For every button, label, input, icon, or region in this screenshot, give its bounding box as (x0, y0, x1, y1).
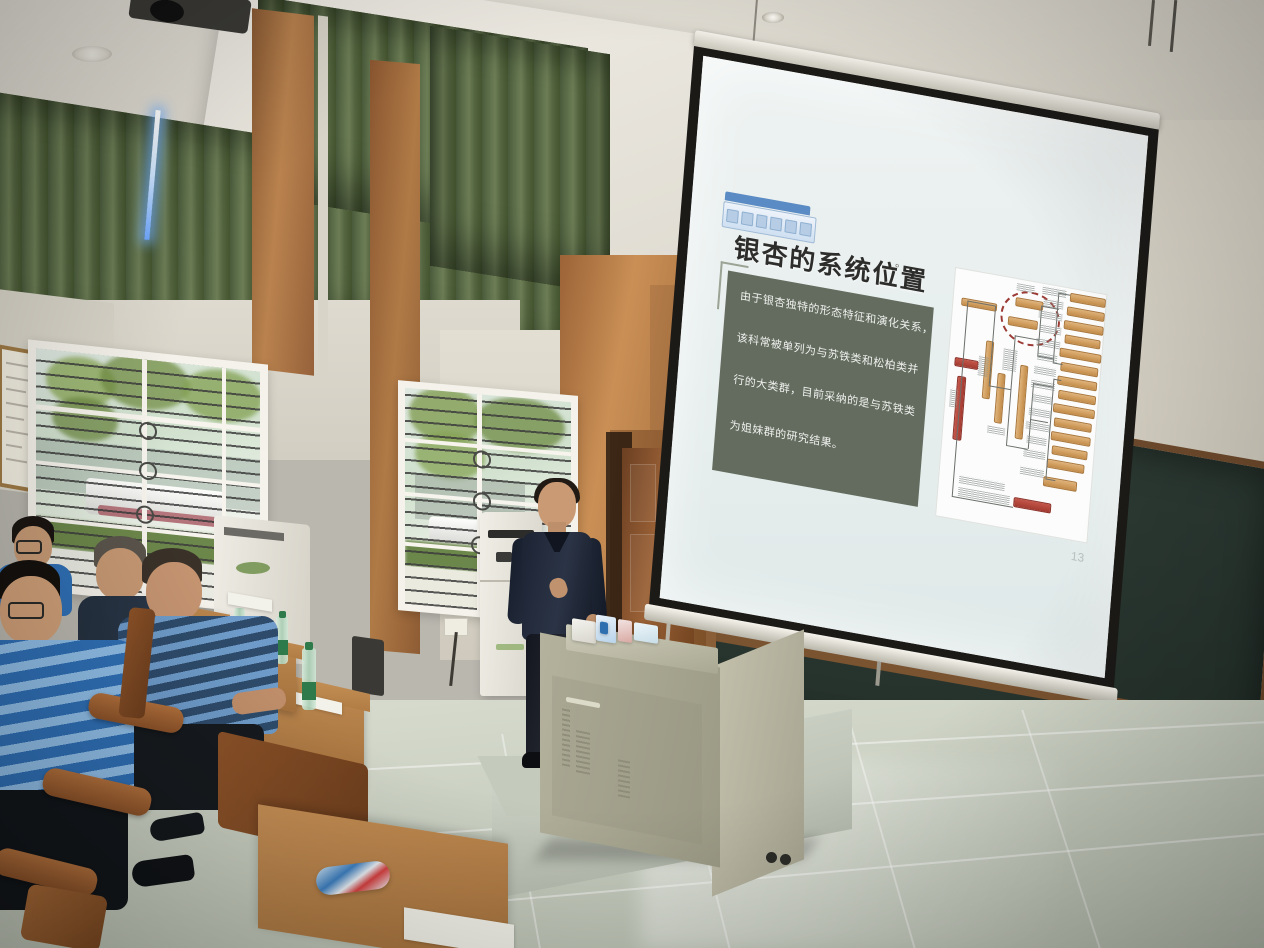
screen-drop-handle[interactable] (875, 661, 881, 686)
toolbar-button-2[interactable] (741, 211, 754, 226)
projection-screen: 银杏的系统位置 。 由于银杏独特的形态特征和演化关系， 该科常被单列为与苏铁类和… (646, 46, 1159, 728)
wall-trim (318, 15, 328, 376)
lecture-hall-photo: 银杏的系统位置 。 由于银杏独特的形态特征和演化关系， 该科常被单列为与苏铁类和… (0, 0, 1264, 948)
podium-foot (780, 854, 791, 865)
slide-page-number: 13 (1070, 549, 1084, 565)
podium-box-red (618, 619, 632, 643)
toolbar-button-6[interactable] (799, 221, 812, 236)
ceiling-downlight (72, 46, 112, 62)
screen-surface: 银杏的系统位置 。 由于银杏独特的形态特征和演化关系， 该科常被单列为与苏铁类和… (660, 56, 1149, 678)
slide-body-line: 由于银杏独特的形态特征和演化关系， (740, 289, 934, 337)
presentation-slide: 银杏的系统位置 。 由于银杏独特的形态特征和演化关系， 该科常被单列为与苏铁类和… (699, 203, 1117, 573)
window-curtain (430, 26, 610, 295)
slide-textbox: 由于银杏独特的形态特征和演化关系， 该科常被单列为与苏铁类和松柏类并 行的大类群… (712, 271, 934, 507)
toolbar-button-4[interactable] (770, 216, 783, 231)
podium-box-white (572, 618, 596, 644)
wall-speaker (352, 636, 384, 696)
audience-glasses (16, 540, 42, 554)
ceiling-downlight (762, 12, 784, 23)
slide-body-line: 该科常被单列为与苏铁类和松柏类并 (736, 331, 919, 377)
podium-box-pale (634, 622, 658, 644)
toolbar-button-1[interactable] (726, 208, 739, 223)
toolbar-button-3[interactable] (755, 213, 768, 228)
phylogenetic-tree-figure (935, 267, 1107, 544)
podium-box-blue-stripe (600, 621, 608, 634)
bottle-label (302, 682, 316, 700)
bottle-cap (305, 642, 313, 650)
bottle-cap (279, 611, 286, 618)
toolbar-button-5[interactable] (785, 219, 798, 234)
podium-foot (766, 852, 777, 863)
audience-member-1 (0, 560, 138, 890)
slide-body-line: 为姐妹群的研究结果。 (729, 419, 844, 452)
water-bottle[interactable] (302, 648, 316, 710)
slide-title-mark: 。 (895, 254, 907, 272)
wooden-pillar (252, 8, 314, 376)
audience-glasses (8, 602, 44, 619)
slide-body-line: 行的大类群，目前采纳的是与苏铁类 (733, 373, 916, 419)
